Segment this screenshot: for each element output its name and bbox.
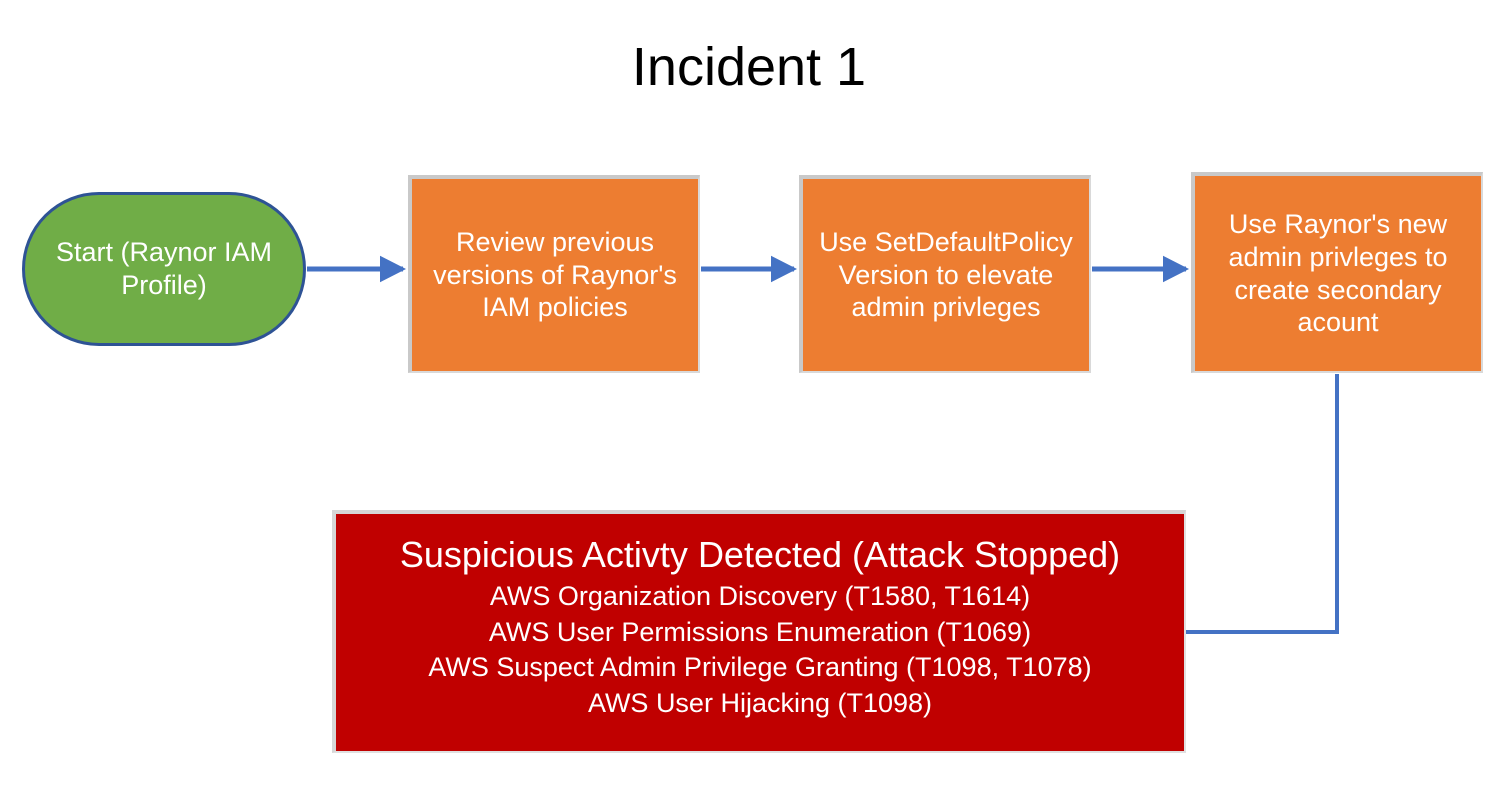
node-review-policies[interactable]: Review previous versions of Raynor's IAM… xyxy=(408,175,700,373)
alert-detection-list: AWS Organization Discovery (T1580, T1614… xyxy=(428,579,1091,723)
diagram-canvas: Incident 1 Start (Raynor IAM Profile) Re… xyxy=(0,0,1498,788)
node-alert[interactable]: Suspicious Activty Detected (Attack Stop… xyxy=(332,510,1186,753)
alert-detection-item: AWS Suspect Admin Privilege Granting (T1… xyxy=(428,650,1091,686)
node-create-secondary-account-label: Use Raynor's new admin privleges to crea… xyxy=(1205,208,1471,340)
node-review-policies-label: Review previous versions of Raynor's IAM… xyxy=(422,226,688,325)
connector-createaccount-to-alert xyxy=(1186,374,1337,632)
node-create-secondary-account[interactable]: Use Raynor's new admin privleges to crea… xyxy=(1191,172,1483,373)
node-start[interactable]: Start (Raynor IAM Profile) xyxy=(22,192,306,346)
node-start-label: Start (Raynor IAM Profile) xyxy=(45,236,283,302)
alert-detection-item: AWS Organization Discovery (T1580, T1614… xyxy=(490,579,1030,615)
alert-heading: Suspicious Activty Detected (Attack Stop… xyxy=(400,533,1120,577)
node-set-default-policy-label: Use SetDefaultPolicy Version to elevate … xyxy=(813,226,1079,325)
alert-detection-item: AWS User Hijacking (T1098) xyxy=(588,686,932,722)
alert-detection-item: AWS User Permissions Enumeration (T1069) xyxy=(489,615,1031,651)
node-set-default-policy[interactable]: Use SetDefaultPolicy Version to elevate … xyxy=(799,175,1091,373)
page-title: Incident 1 xyxy=(0,38,1498,97)
